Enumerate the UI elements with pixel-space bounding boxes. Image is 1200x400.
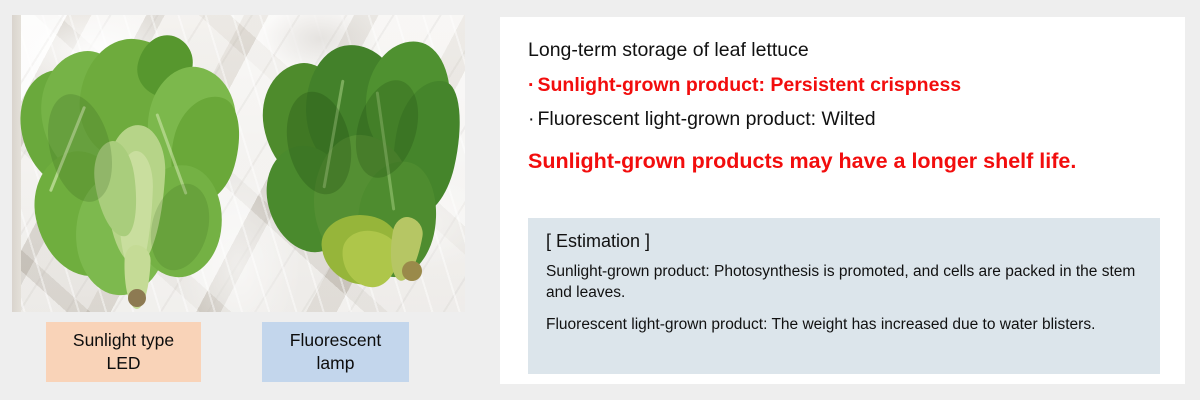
findings-panel: Long-term storage of leaf lettuce ·Sunli… xyxy=(500,17,1185,384)
sunlight-grown-lettuce-head xyxy=(20,33,238,295)
bullet-sunlight-grown: ·Sunlight-grown product: Persistent cris… xyxy=(528,74,1168,97)
photo-caption-row: Sunlight type LED Fluorescent lamp xyxy=(12,322,465,382)
caption-fluorescent-line2: lamp xyxy=(317,353,355,373)
caption-fluorescent-lamp: Fluorescent lamp xyxy=(262,322,409,382)
conclusion-headline: Sunlight-grown products may have a longe… xyxy=(528,149,1168,174)
panel-title: Long-term storage of leaf lettuce xyxy=(528,39,1168,62)
findings-text-stack: Long-term storage of leaf lettuce ·Sunli… xyxy=(528,39,1168,174)
leaf-stem-base xyxy=(402,261,422,281)
bullet-sunlight-grown-text: Sunlight-grown product: Persistent crisp… xyxy=(538,74,962,96)
slide-root: Sunlight type LED Fluorescent lamp Long-… xyxy=(0,0,1200,400)
caption-sunlight-line1: Sunlight type xyxy=(73,330,174,350)
bullet-fluorescent-grown: ·Fluorescent light-grown product: Wilted xyxy=(528,108,1168,131)
caption-sunlight-type-led: Sunlight type LED xyxy=(46,322,201,382)
estimation-paragraph-fluorescent: Fluorescent light-grown product: The wei… xyxy=(546,315,1142,336)
estimation-title: [ Estimation ] xyxy=(546,231,1142,252)
caption-sunlight-line2: LED xyxy=(106,353,140,373)
estimation-box: [ Estimation ] Sunlight-grown product: P… xyxy=(528,218,1160,374)
leaf-stem-base xyxy=(128,289,146,307)
bullet-dot-icon: · xyxy=(528,74,535,96)
bullet-dot-icon: · xyxy=(528,108,535,130)
bullet-fluorescent-grown-text: Fluorescent light-grown product: Wilted xyxy=(538,108,876,130)
fluorescent-lamp-lettuce-head xyxy=(262,39,458,291)
estimation-paragraph-sunlight: Sunlight-grown product: Photosynthesis i… xyxy=(546,262,1142,304)
leaf-lettuce-comparison-photo xyxy=(12,15,465,312)
photo-panel: Sunlight type LED Fluorescent lamp xyxy=(0,0,478,400)
caption-fluorescent-line1: Fluorescent xyxy=(290,330,381,350)
